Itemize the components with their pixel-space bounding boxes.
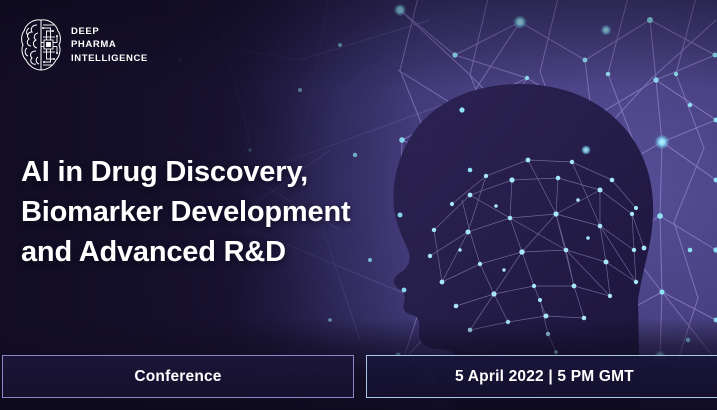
title-line-2: Biomarker Development xyxy=(21,192,350,232)
event-datetime-badge[interactable]: 5 April 2022 | 5 PM GMT xyxy=(366,355,717,398)
brand-logo-text: DEEP PHARMA INTELLIGENCE xyxy=(71,25,148,65)
brand-logo[interactable]: DEEP PHARMA INTELLIGENCE xyxy=(20,17,148,73)
page-title: AI in Drug Discovery, Biomarker Developm… xyxy=(21,152,350,272)
title-line-3: and Advanced R&D xyxy=(21,232,350,272)
logo-line-1: DEEP xyxy=(71,25,148,38)
footer-bars: Conference 5 April 2022 | 5 PM GMT xyxy=(0,350,717,410)
logo-line-3: INTELLIGENCE xyxy=(71,52,148,65)
logo-line-2: PHARMA xyxy=(71,38,148,51)
event-banner: DEEP PHARMA INTELLIGENCE AI in Drug Disc… xyxy=(0,0,717,410)
brain-circuit-icon xyxy=(20,17,62,73)
event-type-badge[interactable]: Conference xyxy=(2,355,354,398)
title-line-1: AI in Drug Discovery, xyxy=(21,152,350,192)
